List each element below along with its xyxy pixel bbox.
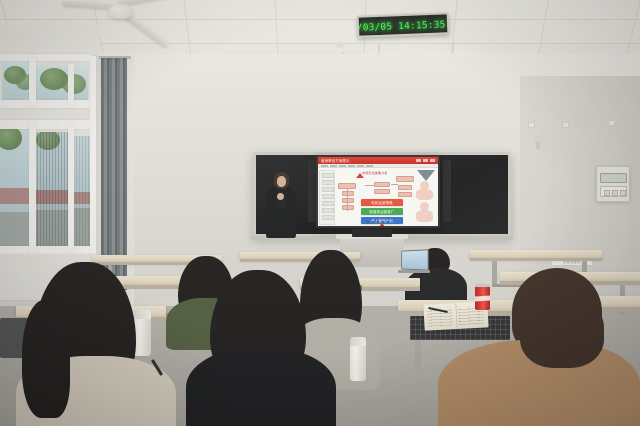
wall-camera	[534, 136, 545, 143]
wall-socket-3[interactable]	[608, 120, 615, 126]
window-pane-upper-left	[2, 60, 32, 100]
display-brand-logo: SEEWO	[372, 222, 383, 225]
window-pane-lower-center	[34, 132, 70, 250]
wall-control-panel[interactable]	[596, 166, 630, 202]
control-panel-display	[600, 173, 627, 183]
laptop-keyboard[interactable]	[398, 270, 430, 273]
window-pane-lower-left	[0, 126, 30, 254]
control-panel-switches[interactable]	[600, 186, 627, 197]
slide-cta-2[interactable]: 新媒体运营推广	[361, 208, 403, 215]
classroom-photo: 24/03/05 14:15:35 二	[0, 0, 640, 426]
smoke-detector	[336, 42, 345, 48]
wall-socket-2[interactable]	[562, 122, 569, 128]
water-bottle	[134, 310, 151, 356]
slide-window-controls[interactable]	[416, 159, 435, 163]
slide-header-title: 营销策划方案展示	[321, 158, 350, 163]
presentation-slide: 营销策划方案展示 市场定位策略分析	[318, 157, 438, 226]
slide-menu-bar[interactable]	[318, 164, 438, 168]
slide-cta-1[interactable]: 电商运营策略	[361, 199, 403, 206]
led-clock-display: 24/03/05 14:15:35 二	[357, 12, 450, 38]
thermos-flask	[350, 337, 366, 381]
smart-display[interactable]: 营销策划方案展示 市场定位策略分析	[316, 155, 440, 228]
slide-cta-1-label: 电商运营策略	[371, 200, 393, 205]
board-speaker-right	[443, 160, 451, 222]
slide-cta-2-label: 新媒体运营推广	[369, 209, 394, 214]
slide-section-label: 市场定位策略分析	[362, 171, 388, 175]
led-clock-text: 24/03/05 14:15:35 二	[357, 16, 450, 34]
wall-socket-1[interactable]	[528, 122, 535, 128]
window-wall	[0, 26, 100, 294]
slide-thumbnail-rail[interactable]	[319, 170, 335, 225]
board-speaker-left	[308, 160, 316, 222]
soda-can	[475, 286, 490, 310]
laptop[interactable]	[401, 249, 429, 271]
window-pane-upper-right	[36, 66, 88, 102]
podium-monitor[interactable]	[352, 229, 392, 237]
